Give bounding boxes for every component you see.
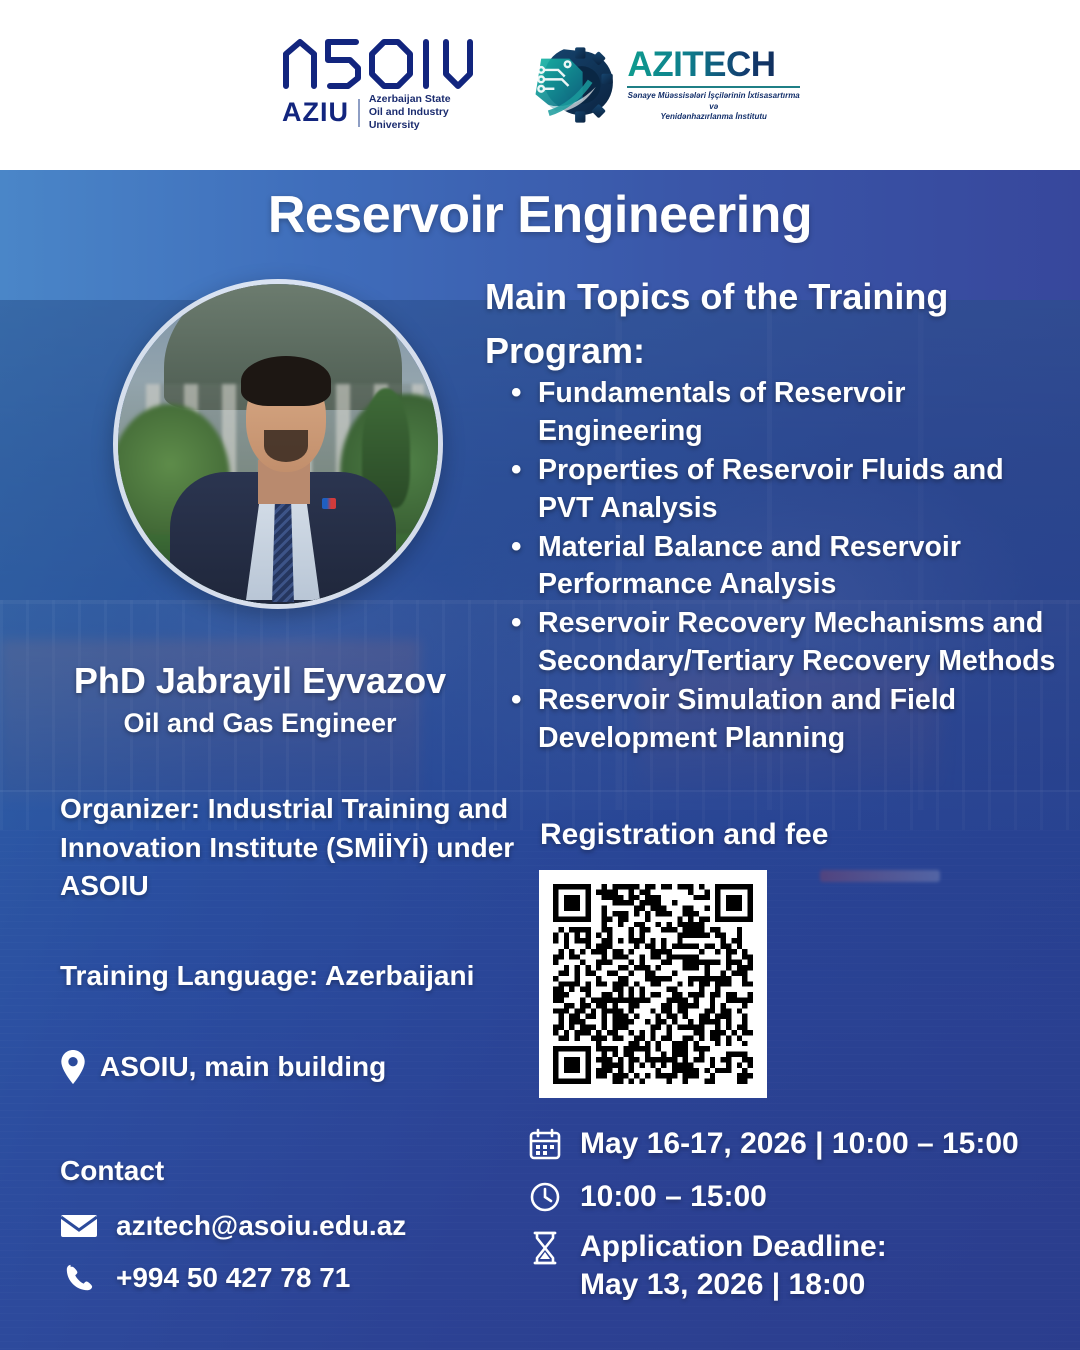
- speaker-name: PhD Jabrayil Eyvazov: [0, 660, 520, 702]
- asoiu-subtitle-line2: Oil and Industry University: [369, 106, 492, 132]
- schedule-time-row: 10:00 – 15:00: [528, 1178, 767, 1216]
- asoiu-logo: AZIU Azerbaijan State Oil and Industry U…: [280, 38, 492, 132]
- photo-hair: [241, 356, 331, 406]
- azitech-logo: AZITECH Sənaye Müəssisələri İşçilərinin …: [528, 39, 800, 131]
- envelope-icon: [60, 1212, 98, 1240]
- organizer-text: Organizer: Industrial Training and Innov…: [60, 790, 520, 906]
- photo-lapel-pin: [322, 498, 336, 509]
- speaker-role: Oil and Gas Engineer: [0, 708, 520, 739]
- list-item: Reservoir Simulation and Field Developme…: [505, 682, 1065, 758]
- contact-email-row[interactable]: azıtech@asoiu.edu.az: [60, 1210, 406, 1242]
- list-item: Properties of Reservoir Fluids and PVT A…: [505, 452, 1065, 528]
- azitech-tagline-line1: Sənaye Müəssisələri İşçilərinin İxtisasa…: [627, 91, 800, 113]
- venue-row: ASOIU, main building: [60, 1050, 540, 1084]
- asoiu-subtitle: Azerbaijan State Oil and Industry Univer…: [369, 93, 492, 132]
- azitech-wordmark: AZITECH: [627, 47, 800, 82]
- speaker-photo: [113, 279, 443, 609]
- venue-label: ASOIU, main building: [100, 1051, 386, 1083]
- qr-canvas: [553, 884, 753, 1084]
- list-item: Material Balance and Reservoir Performan…: [505, 529, 1065, 605]
- page-title: Reservoir Engineering: [0, 185, 1080, 245]
- poster-content: Reservoir Engineering PhD Jabrayil Eyvaz…: [0, 170, 1080, 1350]
- poster-body: Reservoir Engineering PhD Jabrayil Eyvaz…: [0, 170, 1080, 1350]
- deadline-line1: Application Deadline:: [580, 1230, 887, 1263]
- azitech-tagline: Sənaye Müəssisələri İşçilərinin İxtisasa…: [627, 91, 800, 123]
- clock-icon: [528, 1178, 562, 1213]
- calendar-icon: [528, 1125, 562, 1160]
- asoiu-abbr: AZIU: [282, 99, 349, 126]
- phone-icon: [60, 1263, 98, 1293]
- location-pin-icon: [60, 1050, 86, 1084]
- contact-email: azıtech@asoiu.edu.az: [116, 1210, 406, 1242]
- azitech-rule: [627, 86, 800, 88]
- deadline-line2: May 13, 2026 | 18:00: [580, 1268, 865, 1301]
- topics-list: Fundamentals of Reservoir Engineering Pr…: [505, 375, 1065, 759]
- logo-header-band: AZIU Azerbaijan State Oil and Industry U…: [0, 0, 1080, 170]
- contact-heading: Contact: [60, 1155, 164, 1187]
- list-item: Fundamentals of Reservoir Engineering: [505, 375, 1065, 451]
- schedule-date-row: May 16-17, 2026 | 10:00 – 15:00: [528, 1125, 1019, 1163]
- logo-divider: [358, 99, 360, 127]
- list-item: Reservoir Recovery Mechanisms and Second…: [505, 605, 1065, 681]
- azitech-tagline-line2: Yenidənhazırlanma İnstitutu: [627, 112, 800, 123]
- registration-qr-code[interactable]: [539, 870, 767, 1098]
- registration-heading: Registration and fee: [540, 818, 828, 852]
- application-deadline: Application Deadline: May 13, 2026 | 18:…: [580, 1228, 887, 1303]
- topics-heading: Main Topics of the Training Program:: [485, 270, 1025, 378]
- hourglass-icon: [528, 1228, 562, 1265]
- training-language: Training Language: Azerbaijani: [60, 960, 540, 992]
- asoiu-subtitle-line1: Azerbaijan State: [369, 93, 492, 106]
- contact-phone-row[interactable]: +994 50 427 78 71: [60, 1262, 350, 1294]
- contact-phone: +994 50 427 78 71: [116, 1262, 350, 1294]
- asoiu-wordmark-icon: [280, 38, 492, 90]
- photo-beard: [264, 430, 308, 462]
- schedule-date: May 16-17, 2026 | 10:00 – 15:00: [580, 1125, 1019, 1163]
- schedule-time: 10:00 – 15:00: [580, 1178, 767, 1216]
- azitech-emblem-icon: [528, 39, 618, 131]
- application-deadline-row: Application Deadline: May 13, 2026 | 18:…: [528, 1228, 887, 1303]
